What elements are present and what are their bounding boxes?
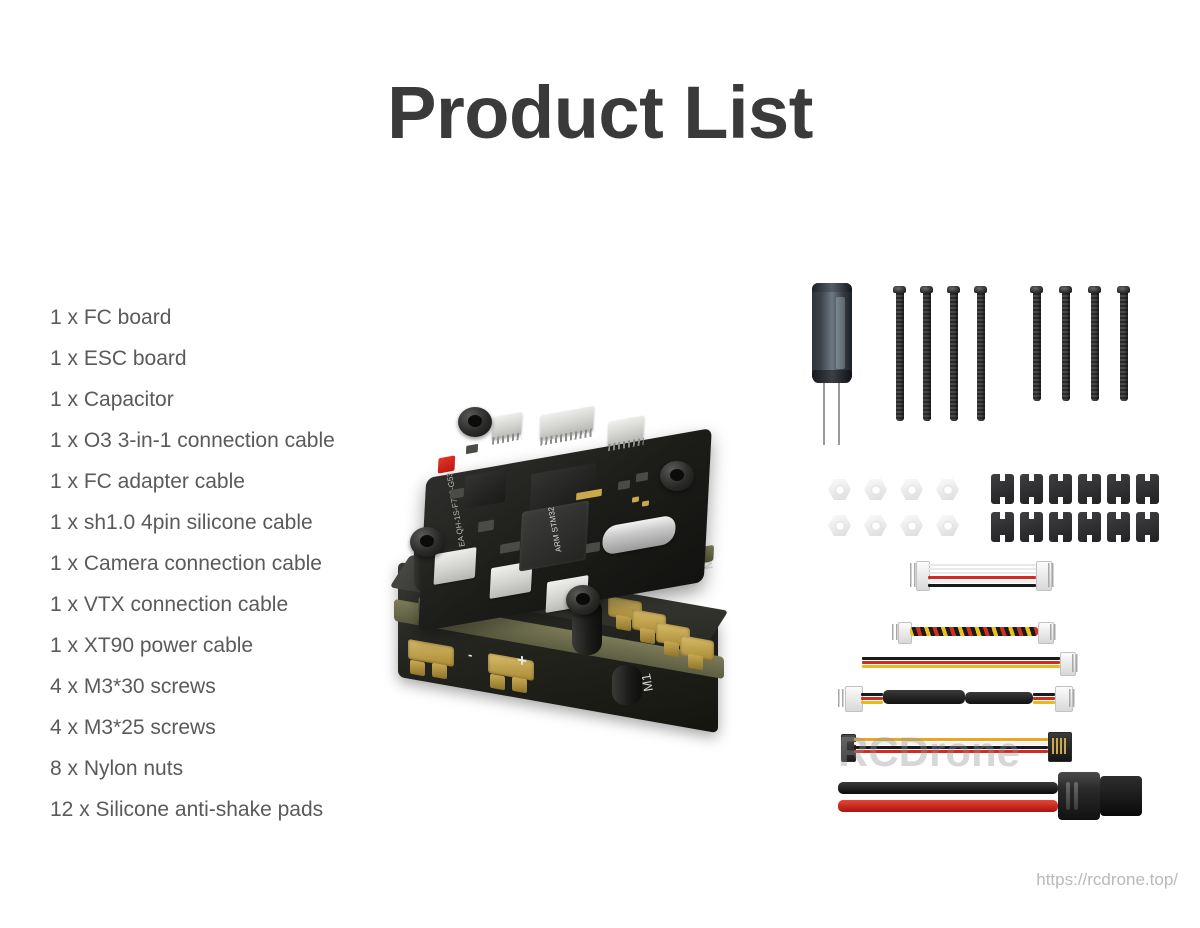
ribbon-wire-black [928,584,1036,587]
wire-red [854,750,1048,753]
nylon-nut [828,515,851,536]
screw-shaft [1091,293,1099,401]
wire-orange [854,738,1048,741]
wire-red [862,661,1060,664]
wire-black [1033,693,1055,696]
grommet-post [612,665,642,705]
cable-connector-pins [1048,563,1056,587]
cable-connector-pins [838,689,846,707]
cable-connector-pins [892,624,899,640]
cable-connector-pins [1052,738,1067,754]
cable-connector-pins [1072,654,1080,672]
silicone-pad [1078,474,1101,504]
silicone-pad [1136,512,1159,542]
screw-shaft [923,293,931,421]
screw-head [1088,286,1101,293]
silicone-pad [1136,474,1159,504]
silicone-pad [1107,512,1130,542]
cable-connector-pins [910,563,918,587]
list-item: 1 x FC board [50,297,450,338]
silicone-pad [1049,474,1072,504]
screw-head [1059,286,1072,293]
product-list-page: Product List 1 x FC board 1 x ESC board … [0,0,1200,928]
capacitor [812,283,852,383]
esc-pad-tab [616,615,631,632]
screw-head [1117,286,1130,293]
nylon-nut [900,515,923,536]
xt90-connector-housing [1100,776,1142,816]
xt90-slot [1074,782,1078,810]
silicone-pad [1020,474,1043,504]
capacitor-body [812,283,852,383]
rubber-grommet [660,461,694,491]
nylon-nut [936,479,959,500]
fc-esc-stack-photo: - + M1 M2 EA QH-1S-F722-G53 [380,385,800,745]
screw-m3x30 [974,286,987,421]
rubber-grommet [458,407,492,437]
capacitor-stripe [836,297,845,369]
list-item: 1 x ESC board [50,338,450,379]
silicone-pad [1107,474,1130,504]
silicone-pad [1078,512,1101,542]
wire-yellow [861,701,883,704]
esc-pad-tab [490,674,505,691]
screw-shaft [1062,293,1070,401]
rubber-grommet [410,527,444,557]
esc-silk-plus: + [517,650,527,672]
screw-m3x25 [1059,286,1072,401]
wire-red-silicone [838,800,1058,812]
ribbon-wire [928,572,1036,574]
wire-yellow [1033,701,1055,704]
silicone-pad [1049,512,1072,542]
esc-pad-tab [664,641,679,658]
ribbon-wire-red [928,576,1036,579]
esc-pad-tab [640,628,655,645]
screw-shaft [1033,293,1041,401]
silicone-pad [991,474,1014,504]
screw-m3x30 [893,286,906,421]
screw-shaft [950,293,958,421]
esc-pad-tab [512,677,527,694]
wire-black [862,657,1060,660]
wire-red [861,697,883,700]
capacitor-lead [823,383,825,445]
cable-sheath [883,690,965,704]
xt90-connector-body [1058,772,1100,820]
nylon-nut [864,515,887,536]
screw-head [974,286,987,293]
site-url-watermark: https://rcdrone.top/ [1036,870,1178,890]
screw-m3x25 [1117,286,1130,401]
nylon-nut [828,479,851,500]
ribbon-wire [928,580,1036,583]
ribbon-wire [928,564,1036,566]
list-item: 12 x Silicone anti-shake pads [50,789,450,830]
screw-m3x30 [920,286,933,421]
wire-white [854,742,1048,745]
wire-yellow [862,665,1060,668]
nylon-nut [900,479,923,500]
screw-head [920,286,933,293]
screw-m3x25 [1030,286,1043,401]
rubber-grommet [566,585,600,615]
esc-pad-tab [432,663,447,680]
silicone-pad [1020,512,1043,542]
capacitor-lead [838,383,840,445]
wire-black [854,746,1048,749]
screw-shaft [896,293,904,421]
ribbon-wire [928,568,1036,570]
esc-pad-tab [688,654,703,671]
cable-connector-pins [1069,689,1077,707]
xt90-slot [1066,782,1070,810]
smd-component [466,444,478,454]
nylon-nut [936,515,959,536]
cable-connector-pins [1050,624,1057,640]
screw-shaft [1120,293,1128,401]
screw-shaft [977,293,985,421]
twisted-wire-bundle [910,627,1038,636]
screw-head [947,286,960,293]
esc-pad-tab [410,660,425,677]
screw-head [1030,286,1043,293]
screw-head [893,286,906,293]
cable-sheath [965,692,1033,704]
screw-m3x25 [1088,286,1101,401]
wire-black [861,693,883,696]
boot-button [438,455,456,473]
silicone-pad [991,512,1014,542]
list-item: 8 x Nylon nuts [50,748,450,789]
esc-silk-minus: - [468,647,472,663]
page-title: Product List [0,76,1200,150]
wire-red [1033,697,1055,700]
screw-m3x30 [947,286,960,421]
nylon-nut [864,479,887,500]
wire-black-silicone [838,782,1058,794]
